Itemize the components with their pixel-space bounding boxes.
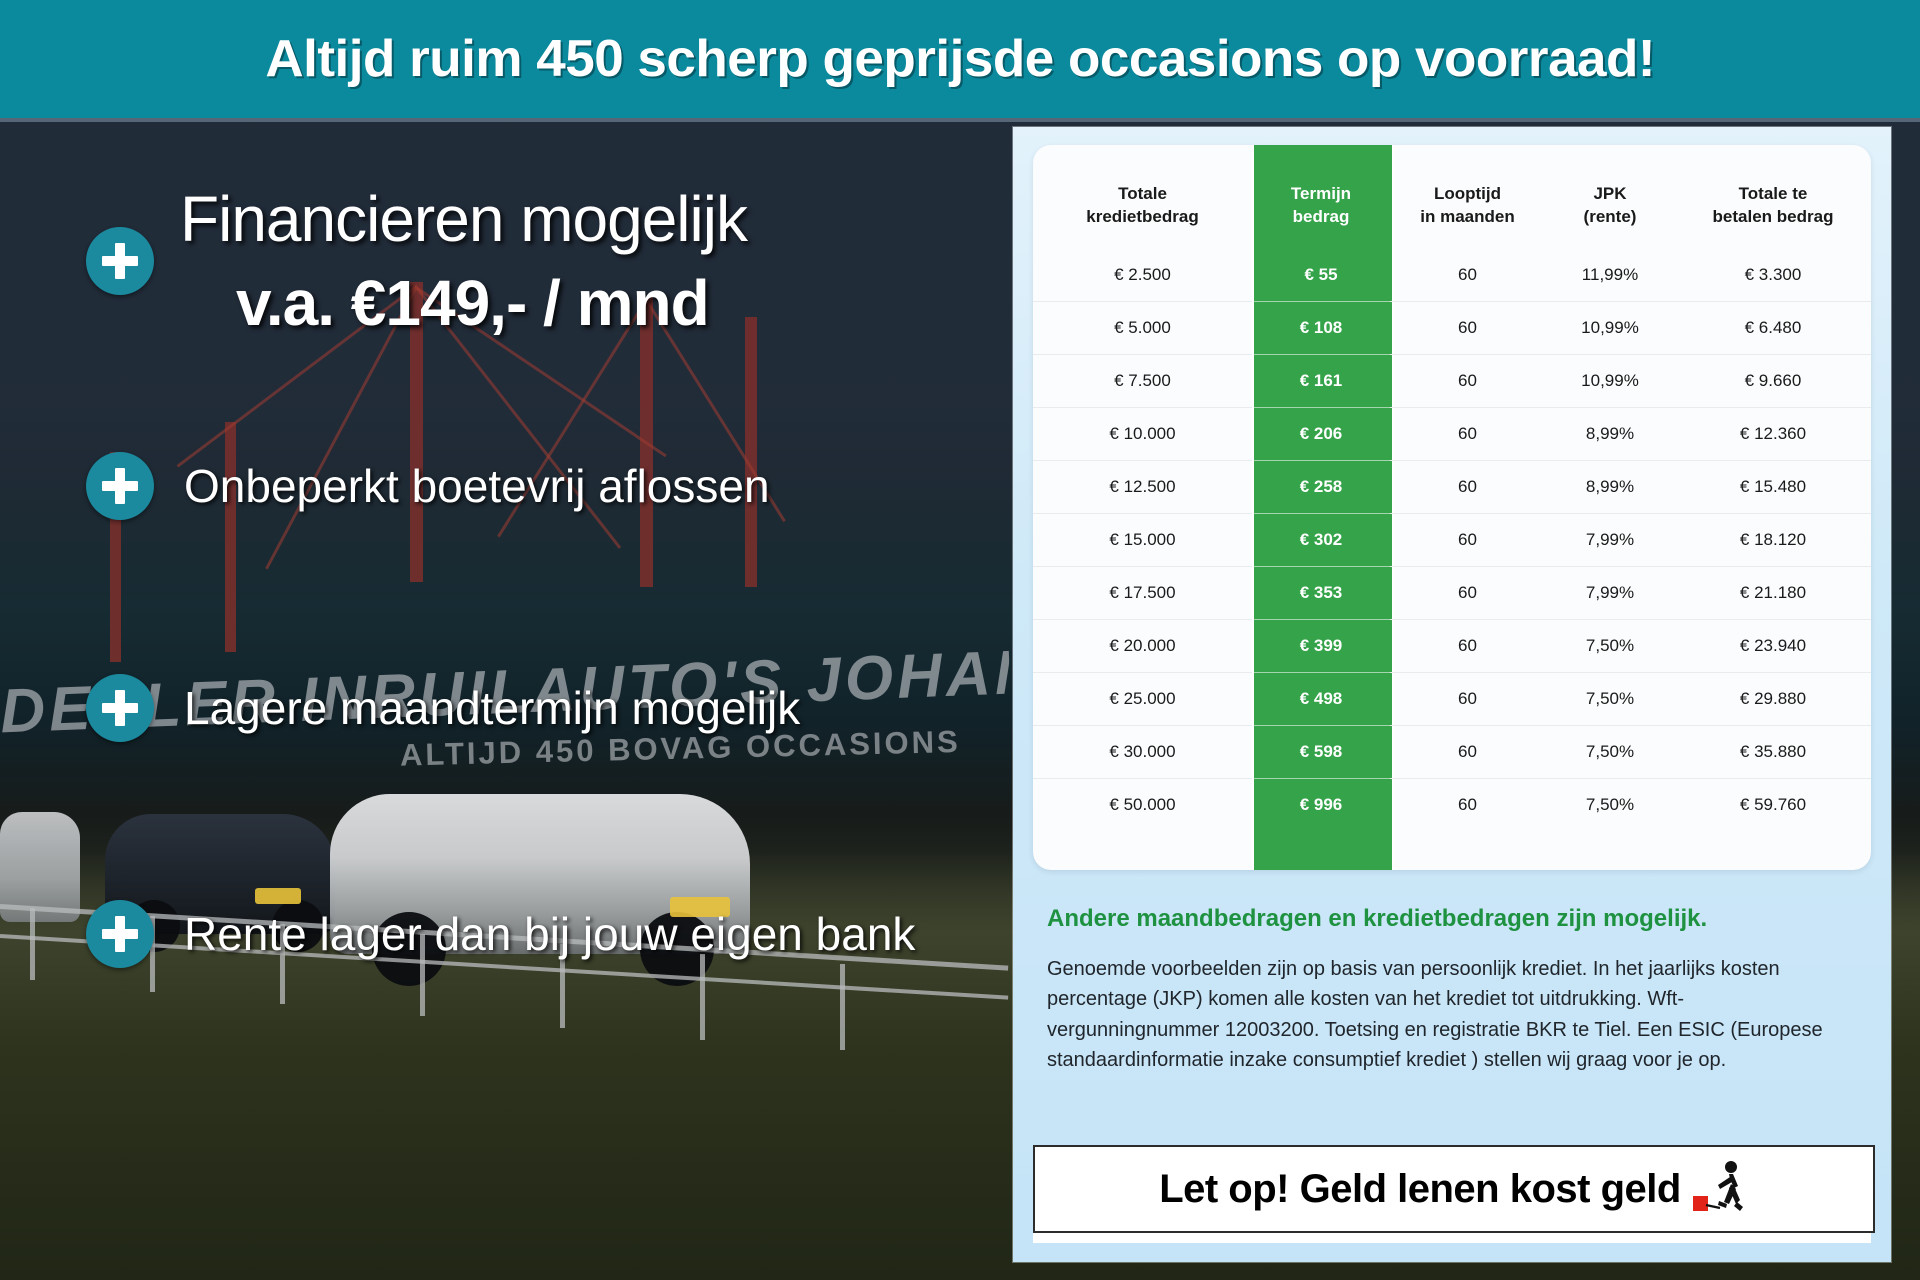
cell-termijn: € 161 xyxy=(1252,355,1390,408)
cell-jpk: 7,50% xyxy=(1545,726,1675,779)
table-row: € 10.000€ 206608,99%€ 12.360 xyxy=(1033,408,1871,461)
benefit-label: Onbeperkt boetevrij aflossen xyxy=(184,459,770,513)
cell-looptijd: 60 xyxy=(1390,514,1545,567)
cell-looptijd: 60 xyxy=(1390,726,1545,779)
cell-termijn: € 302 xyxy=(1252,514,1390,567)
plus-icon xyxy=(86,900,154,968)
cell-totaal: € 23.940 xyxy=(1675,620,1871,673)
table-row: € 5.000€ 1086010,99%€ 6.480 xyxy=(1033,302,1871,355)
cell-totaal: € 18.120 xyxy=(1675,514,1871,567)
cell-krediet: € 50.000 xyxy=(1033,779,1252,832)
plus-icon xyxy=(86,227,154,295)
cell-termijn: € 399 xyxy=(1252,620,1390,673)
header-line: kredietbedrag xyxy=(1033,206,1252,229)
cell-termijn: € 353 xyxy=(1252,567,1390,620)
cell-krediet: € 30.000 xyxy=(1033,726,1252,779)
cell-totaal: € 3.300 xyxy=(1675,249,1871,302)
table-header-row: Totale kredietbedrag Termijn bedrag Loop… xyxy=(1033,145,1871,249)
hero-line-2: v.a. €149,- / mnd xyxy=(236,266,747,340)
cell-looptijd: 60 xyxy=(1390,673,1545,726)
banner-headline: Altijd ruim 450 scherp geprijsde occasio… xyxy=(265,29,1655,89)
header-jpk: JPK (rente) xyxy=(1545,145,1675,249)
header-line: in maanden xyxy=(1390,206,1545,229)
cell-totaal: € 12.360 xyxy=(1675,408,1871,461)
table-row: € 30.000€ 598607,50%€ 35.880 xyxy=(1033,726,1871,779)
header-line: JPK xyxy=(1545,183,1675,206)
header-totale-kredietbedrag: Totale kredietbedrag xyxy=(1033,145,1252,249)
cell-looptijd: 60 xyxy=(1390,620,1545,673)
cell-jpk: 8,99% xyxy=(1545,408,1675,461)
benefit-label: Lagere maandtermijn mogelijk xyxy=(184,681,800,735)
cell-jpk: 7,50% xyxy=(1545,779,1675,832)
header-line: Totale te xyxy=(1675,183,1871,206)
header-termijn-bedrag: Termijn bedrag xyxy=(1252,145,1390,249)
cell-termijn: € 498 xyxy=(1252,673,1390,726)
header-line: Looptijd xyxy=(1390,183,1545,206)
cell-looptijd: 60 xyxy=(1390,355,1545,408)
table-row: € 7.500€ 1616010,99%€ 9.660 xyxy=(1033,355,1871,408)
table-row: € 15.000€ 302607,99%€ 18.120 xyxy=(1033,514,1871,567)
cell-krediet: € 7.500 xyxy=(1033,355,1252,408)
cell-jpk: 11,99% xyxy=(1545,249,1675,302)
benefit-item-2: Lagere maandtermijn mogelijk xyxy=(86,674,800,742)
panel-bottom-strip xyxy=(1033,1233,1871,1243)
cell-looptijd: 60 xyxy=(1390,567,1545,620)
cell-looptijd: 60 xyxy=(1390,302,1545,355)
plus-icon xyxy=(86,674,154,742)
cell-totaal: € 21.180 xyxy=(1675,567,1871,620)
cell-termijn: € 55 xyxy=(1252,249,1390,302)
header-line: (rente) xyxy=(1545,206,1675,229)
header-line: bedrag xyxy=(1252,206,1390,229)
header-line: Totale xyxy=(1033,183,1252,206)
benefit-item-3: Rente lager dan bij jouw eigen bank xyxy=(86,900,915,968)
cell-totaal: € 6.480 xyxy=(1675,302,1871,355)
cell-krediet: € 20.000 xyxy=(1033,620,1252,673)
cell-jpk: 7,99% xyxy=(1545,514,1675,567)
cell-termijn: € 258 xyxy=(1252,461,1390,514)
cell-termijn: € 598 xyxy=(1252,726,1390,779)
disclaimer-heading: Andere maandbedragen en kredietbedragen … xyxy=(1047,905,1847,934)
table-row: € 17.500€ 353607,99%€ 21.180 xyxy=(1033,567,1871,620)
benefits-list: Financieren mogelijk v.a. €149,- / mnd O… xyxy=(0,122,1010,1280)
cell-looptijd: 60 xyxy=(1390,408,1545,461)
table-body: € 2.500€ 556011,99%€ 3.300 € 5.000€ 1086… xyxy=(1033,249,1871,831)
cell-jpk: 10,99% xyxy=(1545,302,1675,355)
cell-krediet: € 2.500 xyxy=(1033,249,1252,302)
hero-benefit: Financieren mogelijk v.a. €149,- / mnd xyxy=(86,182,747,340)
table-row: € 20.000€ 399607,50%€ 23.940 xyxy=(1033,620,1871,673)
cell-jpk: 8,99% xyxy=(1545,461,1675,514)
cell-krediet: € 10.000 xyxy=(1033,408,1252,461)
cell-jpk: 7,99% xyxy=(1545,567,1675,620)
financing-panel: Totale kredietbedrag Termijn bedrag Loop… xyxy=(1013,127,1891,1262)
benefit-label: Rente lager dan bij jouw eigen bank xyxy=(184,907,915,961)
benefit-item-1: Onbeperkt boetevrij aflossen xyxy=(86,452,770,520)
table-row: € 12.500€ 258608,99%€ 15.480 xyxy=(1033,461,1871,514)
header-looptijd: Looptijd in maanden xyxy=(1390,145,1545,249)
warning-text: Let op! Geld lenen kost geld xyxy=(1159,1167,1681,1212)
table-row: € 25.000€ 498607,50%€ 29.880 xyxy=(1033,673,1871,726)
cell-totaal: € 35.880 xyxy=(1675,726,1871,779)
cell-krediet: € 25.000 xyxy=(1033,673,1252,726)
cell-krediet: € 5.000 xyxy=(1033,302,1252,355)
plus-icon xyxy=(86,452,154,520)
cell-totaal: € 9.660 xyxy=(1675,355,1871,408)
disclaimer-body: Genoemde voorbeelden zijn op basis van p… xyxy=(1047,954,1847,1076)
cell-krediet: € 17.500 xyxy=(1033,567,1252,620)
cell-krediet: € 12.500 xyxy=(1033,461,1252,514)
warning-box: Let op! Geld lenen kost geld xyxy=(1033,1145,1875,1233)
financing-table-card: Totale kredietbedrag Termijn bedrag Loop… xyxy=(1033,145,1871,870)
cell-termijn: € 996 xyxy=(1252,779,1390,832)
cell-krediet: € 15.000 xyxy=(1033,514,1252,567)
cell-jpk: 7,50% xyxy=(1545,620,1675,673)
cell-termijn: € 108 xyxy=(1252,302,1390,355)
top-banner: Altijd ruim 450 scherp geprijsde occasio… xyxy=(0,0,1920,118)
cell-looptijd: 60 xyxy=(1390,779,1545,832)
header-line: Termijn xyxy=(1252,183,1390,206)
header-totale-te-betalen: Totale te betalen bedrag xyxy=(1675,145,1871,249)
cell-looptijd: 60 xyxy=(1390,461,1545,514)
header-line: betalen bedrag xyxy=(1675,206,1871,229)
hero-line-1: Financieren mogelijk xyxy=(180,182,747,256)
cell-totaal: € 59.760 xyxy=(1675,779,1871,832)
cell-jpk: 7,50% xyxy=(1545,673,1675,726)
cell-totaal: € 15.480 xyxy=(1675,461,1871,514)
walking-man-dragging-block-icon xyxy=(1693,1160,1749,1218)
cell-looptijd: 60 xyxy=(1390,249,1545,302)
disclaimer-block: Andere maandbedragen en kredietbedragen … xyxy=(1047,905,1847,1075)
financing-table: Totale kredietbedrag Termijn bedrag Loop… xyxy=(1033,145,1871,831)
cell-termijn: € 206 xyxy=(1252,408,1390,461)
cell-jpk: 10,99% xyxy=(1545,355,1675,408)
cell-totaal: € 29.880 xyxy=(1675,673,1871,726)
table-row: € 2.500€ 556011,99%€ 3.300 xyxy=(1033,249,1871,302)
table-row: € 50.000€ 996607,50%€ 59.760 xyxy=(1033,779,1871,832)
advertisement-stage: DEALER INRUILAUTO'S JOHAN MEURE ALTIJD 4… xyxy=(0,0,1920,1280)
